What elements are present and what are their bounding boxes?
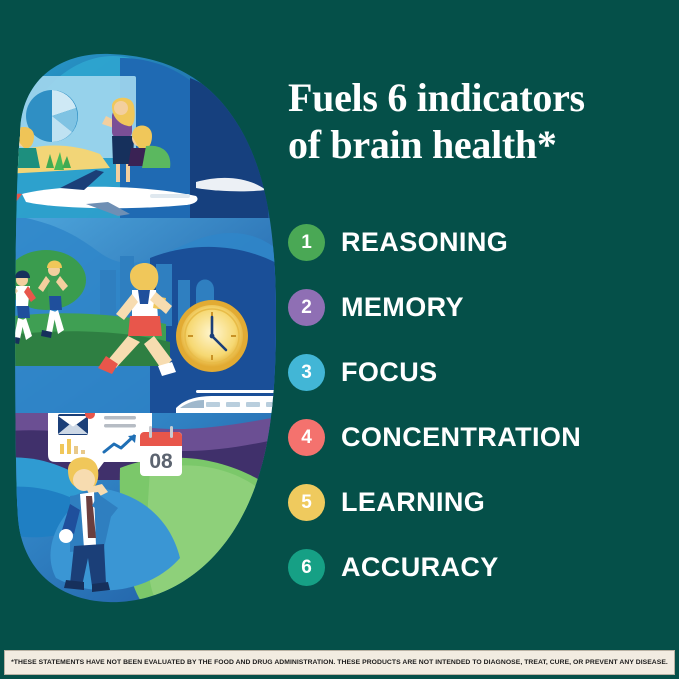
calendar-day: 08 [149,450,173,473]
indicator-number-badge: 2 [288,289,325,326]
disclaimer-text: *THESE STATEMENTS HAVE NOT BEEN EVALUATE… [11,659,668,666]
indicator-row-concentration: 4CONCENTRATION [288,413,678,461]
calendar: 08 [140,426,182,476]
text-line [104,416,136,420]
indicator-number-badge: 6 [288,549,325,586]
indicator-row-learning: 5LEARNING [288,478,678,526]
text-line [104,424,136,428]
brain-silhouette: 08 [0,18,282,633]
indicator-row-reasoning: 1REASONING [288,218,678,266]
indicator-label: LEARNING [341,487,485,518]
clock [176,300,248,372]
brain-health-infographic: 08 [0,0,679,679]
indicator-label: ACCURACY [341,552,499,583]
headline-line-1: Fuels 6 indicators [288,74,668,121]
brain-illustration: 08 [0,18,282,633]
commuter-scene: 08 [0,406,282,633]
presentation-scene [0,18,282,218]
indicator-label: MEMORY [341,292,464,323]
indicator-row-accuracy: 6ACCURACY [288,543,678,591]
indicator-label: FOCUS [341,357,438,388]
indicator-number-badge: 4 [288,419,325,456]
indicator-label: CONCENTRATION [341,422,581,453]
disclaimer-bar: *THESE STATEMENTS HAVE NOT BEEN EVALUATE… [4,650,675,675]
headline-line-2: of brain health* [288,121,668,168]
page-title: Fuels 6 indicators of brain health* [288,74,668,168]
indicator-number-badge: 5 [288,484,325,521]
indicator-number-badge: 1 [288,224,325,261]
indicator-row-memory: 2MEMORY [288,283,678,331]
indicator-number-badge: 3 [288,354,325,391]
running-scene [0,214,282,418]
indicator-row-focus: 3FOCUS [288,348,678,396]
envelope-icon [58,414,88,435]
indicator-label: REASONING [341,227,508,258]
indicator-list: 1REASONING2MEMORY3FOCUS4CONCENTRATION5LE… [288,218,678,608]
